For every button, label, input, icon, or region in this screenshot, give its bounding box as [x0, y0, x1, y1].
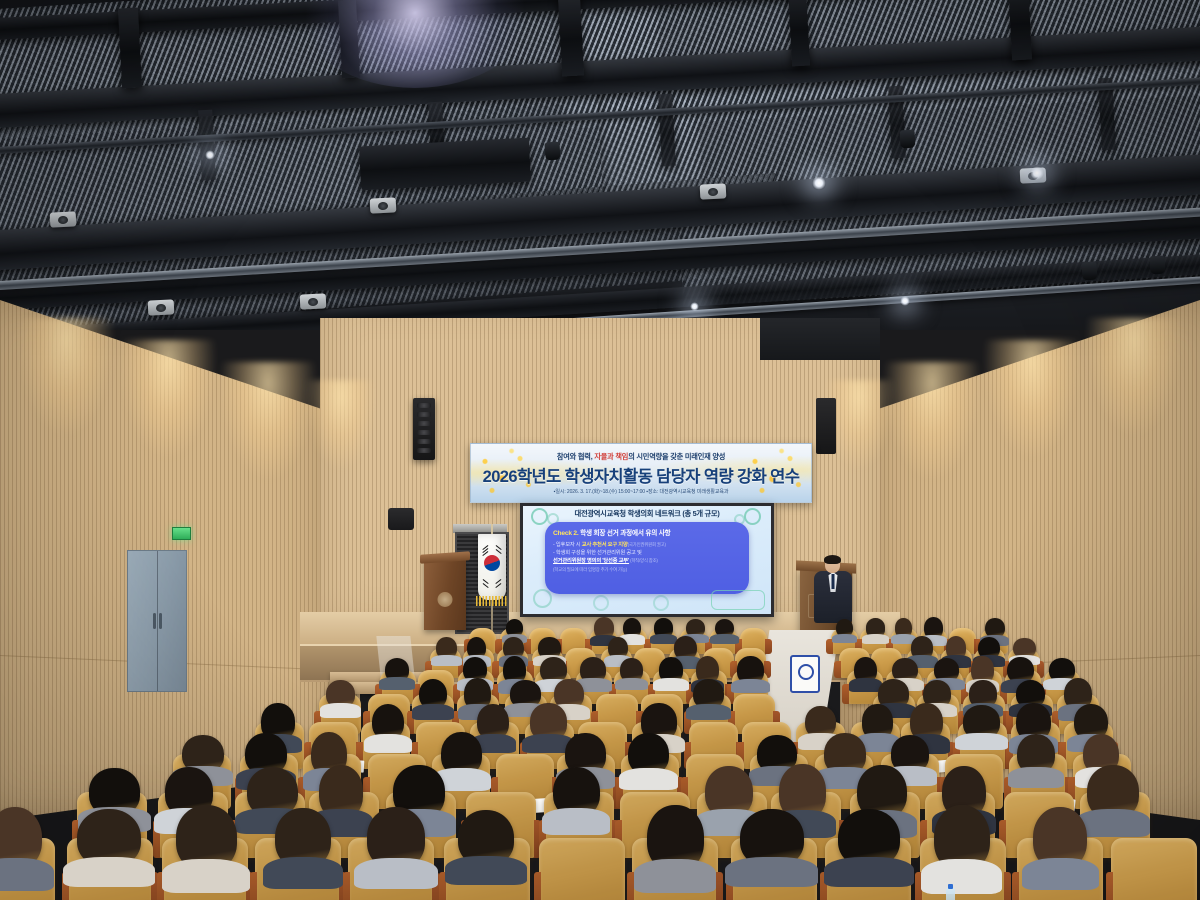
- ceiling-spotlight-icon: [370, 197, 397, 213]
- audience-member: [674, 636, 697, 661]
- banner-subtitle: 참여와 협력, 자율과 책임의 시민역량을 갖춘 미래인재 양성: [557, 452, 725, 462]
- audience-member: [275, 808, 331, 869]
- line-array-speaker-right: [816, 398, 836, 454]
- audience-member: [458, 810, 515, 866]
- ceiling-light-icon: [690, 302, 699, 311]
- audience-member: [530, 703, 566, 740]
- audience-shoulders: [832, 634, 857, 644]
- slide-bullet-3: 선거관리위원장 명의의 '당선증 교부' (학칙/양식 참조): [553, 557, 741, 565]
- slide-bullet-4: (학교의 필요에 따라 임명장 추가 수여 가능): [553, 566, 741, 574]
- audience-member: [326, 680, 355, 708]
- auditorium-seat[interactable]: [1111, 838, 1197, 900]
- projection-screen: 대전광역시교육청 학생의회 네트워크 (총 5개 규모) Check 2. 학생…: [523, 506, 771, 614]
- presenter-tie: [832, 574, 835, 589]
- audience-member: [620, 658, 643, 682]
- audience-shoulders: [615, 678, 648, 690]
- audience-member: [985, 618, 1005, 639]
- slide-check-heading: Check 2. 학생 회장 선거 과정에서 유의 사항: [553, 527, 741, 537]
- audience-shoulders: [445, 856, 527, 885]
- audience-member: [77, 809, 141, 868]
- korean-flag-icon: [478, 534, 506, 600]
- audience-shoulders: [725, 857, 818, 887]
- audience-member: [436, 637, 457, 659]
- audience-member: [608, 637, 628, 660]
- audience-member: [580, 657, 606, 683]
- ceiling-spotlight-icon: [50, 211, 77, 227]
- ceiling-light-icon: [812, 176, 826, 190]
- audience-shoulders: [162, 859, 250, 893]
- audience-member: [862, 704, 893, 739]
- audience-member: [911, 636, 933, 659]
- audience-shoulders: [63, 857, 155, 888]
- slide-bullet-1: - 입후보자 시 교사 추천서 요구 지양(국가인권위원회 권고): [553, 541, 741, 549]
- banner-meta: ▪일시: 2026. 3. 17.(화)~18.(수) 15:00~17:00 …: [554, 488, 729, 495]
- audience-member: [385, 658, 410, 681]
- audience-shoulders: [263, 857, 343, 889]
- audience-member: [538, 637, 561, 659]
- audience-member: [836, 619, 854, 637]
- banner-title: 2026학년도 학생자치활동 담당자 역량 강화 연수: [483, 463, 800, 487]
- ceiling-light-icon: [900, 296, 910, 306]
- audience-member: [963, 705, 1000, 738]
- audience-member: [628, 733, 669, 776]
- audience-member: [686, 619, 705, 637]
- wheelchair-space-marking-icon: [790, 655, 820, 693]
- audience-member: [419, 679, 448, 710]
- back-wall-dark-panel: [760, 318, 880, 360]
- audience-member: [1013, 638, 1035, 659]
- audience-member: [654, 618, 673, 637]
- audience-shoulders: [542, 808, 610, 834]
- exposed-ceiling: [0, 0, 1200, 330]
- audience-member: [891, 735, 929, 773]
- audience-shoulders: [849, 678, 882, 692]
- audience-shoulders: [1008, 767, 1063, 788]
- audience-shoulders: [320, 703, 362, 718]
- audience-shoulders: [862, 634, 890, 644]
- audience-member: [659, 657, 684, 683]
- audience-shoulders: [364, 734, 411, 753]
- audience-member: [934, 658, 959, 682]
- audience-member: [467, 637, 486, 660]
- audience-shoulders: [412, 704, 453, 720]
- ceiling-spotlight-icon: [300, 293, 327, 309]
- audience-shoulders: [955, 733, 1008, 750]
- audience-shoulders: [619, 768, 678, 790]
- audience-member: [1087, 765, 1139, 819]
- audience-shoulders: [354, 858, 438, 890]
- auditorium-photo-scene: 참여와 협력, 자율과 책임의 시민역량을 갖춘 미래인재 양성 2026학년도…: [0, 0, 1200, 900]
- audience-member: [854, 657, 877, 683]
- presenter-hair: [824, 555, 841, 564]
- audience-member: [693, 679, 724, 709]
- audience-member: [740, 809, 804, 867]
- audience-shoulders: [0, 858, 54, 891]
- audience-member: [737, 656, 764, 683]
- audience-shoulders: [653, 678, 688, 691]
- audience-member: [553, 767, 600, 818]
- audience-member: [715, 619, 735, 638]
- slide-content-box: Check 2. 학생 회장 선거 과정에서 유의 사항 - 입후보자 시 교사…: [545, 522, 749, 594]
- audience-member: [1033, 807, 1087, 869]
- ceiling-spotlight-icon: [700, 183, 727, 199]
- emergency-exit-sign-icon: [172, 527, 191, 540]
- audience-member: [705, 766, 753, 818]
- audience-member: [623, 618, 641, 638]
- audience-member: [554, 679, 583, 710]
- audience-shoulders: [731, 679, 769, 693]
- audience-shoulders: [634, 859, 716, 893]
- audience-member: [319, 765, 363, 818]
- audience-member: [805, 706, 836, 739]
- audience-shoulders: [710, 634, 738, 644]
- audience-member: [924, 617, 943, 639]
- audience-member: [934, 805, 990, 872]
- audience-member: [1049, 658, 1075, 682]
- audience-member: [506, 619, 524, 637]
- audience-member: [441, 732, 482, 776]
- event-banner: 참여와 협력, 자율과 책임의 시민역량을 갖춘 미래인재 양성 2026학년도…: [470, 443, 812, 503]
- stage-speaker-box: [388, 508, 414, 530]
- line-array-speaker: [413, 398, 435, 460]
- slide-title: 대전광역시교육청 학생의회 네트워크 (총 5개 규모): [523, 509, 771, 519]
- ceiling-light-icon: [1030, 166, 1044, 180]
- audience-shoulders: [1022, 858, 1100, 890]
- audience-shoulders: [824, 857, 914, 887]
- audience-member: [510, 680, 541, 707]
- audience-shoulders: [379, 677, 415, 689]
- audience-member: [969, 680, 997, 708]
- taeguk-symbol-icon: [484, 555, 500, 571]
- audience-member: [866, 618, 885, 637]
- audience-member: [824, 733, 866, 775]
- audience-member: [176, 805, 237, 870]
- audience-shoulders: [431, 655, 462, 666]
- audience-member: [946, 636, 966, 659]
- audience-member: [367, 807, 425, 868]
- audience-shoulders: [686, 704, 731, 720]
- audience-member: [895, 618, 912, 638]
- audience-member: [594, 617, 614, 639]
- audience-shoulders: [650, 634, 677, 644]
- audience-member: [838, 809, 900, 868]
- slide-bullet-2: - 학생회 구성을 위한 선거관리위원 공고 및: [553, 549, 741, 557]
- ceiling-light-icon: [205, 150, 215, 160]
- auditorium-seat[interactable]: [539, 838, 625, 900]
- audience-member: [647, 805, 704, 871]
- audience-member: [1017, 734, 1055, 775]
- audience-shoulders: [921, 859, 1002, 894]
- audience-member: [477, 704, 509, 741]
- water-bottle: [946, 888, 955, 900]
- ceiling-spotlight-icon: [148, 299, 175, 315]
- audience-member: [372, 704, 405, 741]
